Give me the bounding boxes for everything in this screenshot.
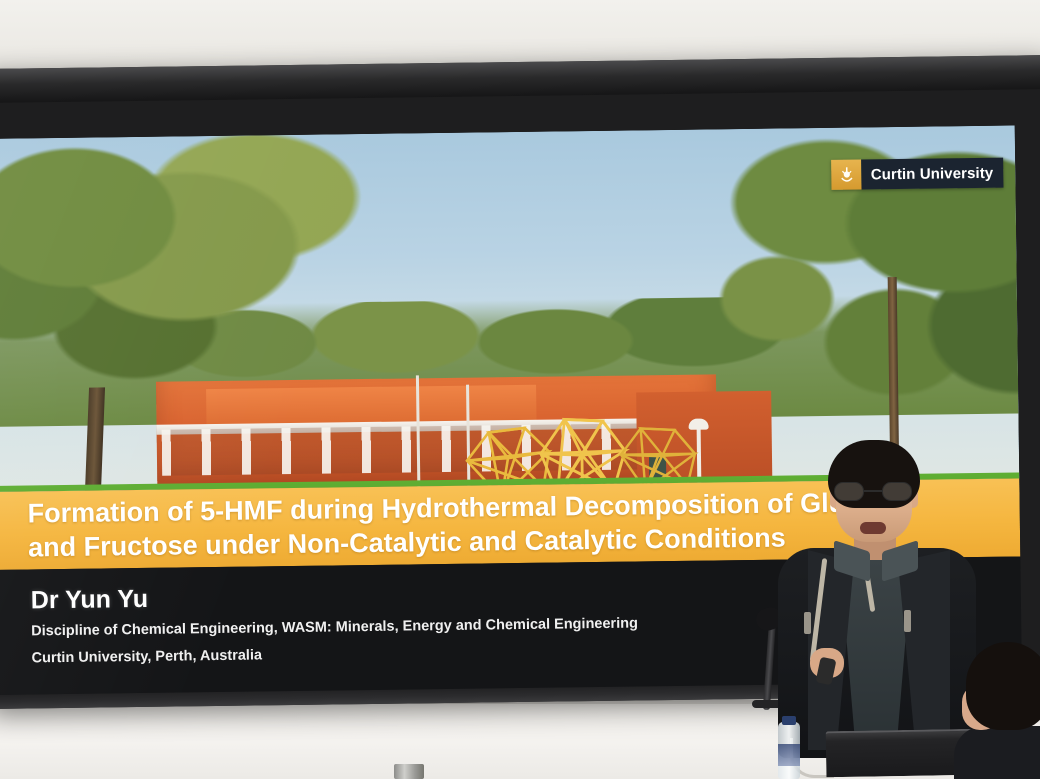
audience-member-head xyxy=(966,642,1040,730)
presenter-pocket-left xyxy=(804,612,811,634)
presenter-mouth xyxy=(860,522,886,534)
presenter-pocket-right xyxy=(904,610,911,632)
curtin-shield-icon xyxy=(832,160,862,190)
glasses-lens-left xyxy=(834,482,864,501)
foreground-tree-left xyxy=(0,126,377,430)
water-bottle-cap xyxy=(782,716,796,725)
water-bottle-label xyxy=(778,744,800,766)
glasses-bridge xyxy=(864,490,882,492)
audience-member-body xyxy=(954,726,1040,779)
curtin-university-logo: Curtin University xyxy=(832,158,1004,190)
presenter-figure xyxy=(756,430,986,750)
audience-member xyxy=(958,630,1040,779)
curtin-university-logo-text: Curtin University xyxy=(862,158,1004,190)
metal-canister xyxy=(394,764,424,779)
glasses-icon xyxy=(830,482,918,502)
glasses-lens-right xyxy=(882,482,912,501)
presentation-scene: Curtin University Formation of 5-HMF dur… xyxy=(0,0,1040,779)
